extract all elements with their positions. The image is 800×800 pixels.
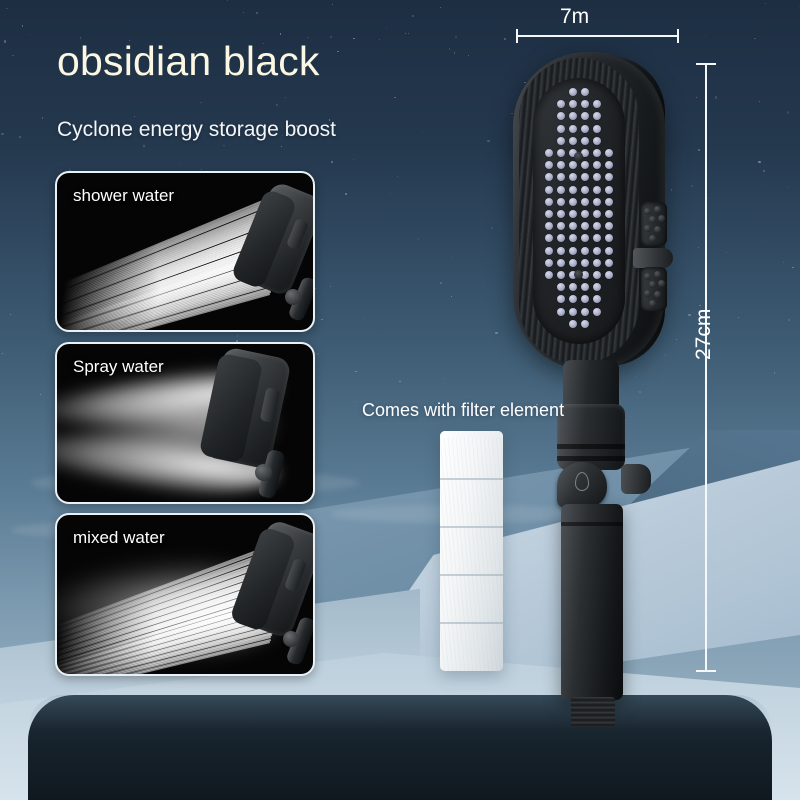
- filter-band: [440, 574, 503, 576]
- spray-nozzle: [593, 234, 601, 242]
- panel-sheen: [28, 695, 772, 729]
- spray-nozzle: [557, 283, 565, 291]
- spray-nozzle: [557, 247, 565, 255]
- spray-nozzle: [569, 186, 577, 194]
- spray-nozzle: [557, 125, 565, 133]
- filter-band: [440, 526, 503, 528]
- product-shower-head: [505, 52, 690, 677]
- spray-nozzle: [605, 222, 613, 230]
- mode-lever[interactable]: [633, 248, 673, 268]
- width-dimension-line: [516, 35, 678, 37]
- mini-knob: [283, 631, 299, 647]
- spray-nozzle: [557, 222, 565, 230]
- spray-nozzle: [557, 173, 565, 181]
- spray-nozzle: [581, 137, 589, 145]
- feature-card-spray-water[interactable]: Spray water: [55, 342, 315, 504]
- spray-nozzle: [593, 283, 601, 291]
- handle: [561, 504, 623, 700]
- filter-annotation: Comes with filter element: [362, 400, 564, 421]
- spray-nozzle: [581, 210, 589, 218]
- spray-nozzle: [605, 198, 613, 206]
- spray-face: [533, 78, 625, 344]
- spray-nozzle: [557, 271, 565, 279]
- spray-nozzle: [569, 320, 577, 328]
- spray-nozzle: [569, 198, 577, 206]
- filter-texture: [440, 431, 503, 671]
- spray-nozzle: [593, 247, 601, 255]
- spray-nozzle: [581, 222, 589, 230]
- water-drop-icon: [575, 472, 589, 491]
- spray-nozzle: [581, 88, 589, 96]
- spray-nozzle: [557, 234, 565, 242]
- spray-nozzle: [545, 271, 553, 279]
- spray-nozzle: [545, 222, 553, 230]
- spray-nozzle: [557, 161, 565, 169]
- spray-nozzle: [569, 222, 577, 230]
- spray-nozzle: [569, 308, 577, 316]
- spray-nozzle: [581, 283, 589, 291]
- spray-nozzle: [557, 112, 565, 120]
- face-screw: [574, 270, 583, 279]
- spray-nozzle: [593, 125, 601, 133]
- spray-nozzle: [557, 295, 565, 303]
- height-dimension-cap-top: [696, 63, 716, 65]
- spray-nozzle: [569, 259, 577, 267]
- spray-nozzle: [569, 173, 577, 181]
- spray-nozzle: [581, 259, 589, 267]
- spray-nozzle: [545, 149, 553, 157]
- product-marketing-image: obsidian black Cyclone energy storage bo…: [0, 0, 800, 800]
- mini-knob: [255, 464, 272, 481]
- spray-nozzle: [593, 137, 601, 145]
- spray-nozzle: [605, 247, 613, 255]
- spray-nozzle: [557, 100, 565, 108]
- spray-nozzle: [557, 198, 565, 206]
- spray-nozzle: [593, 112, 601, 120]
- spray-nozzle: [569, 88, 577, 96]
- feature-card-mixed-water[interactable]: mixed water: [55, 513, 315, 676]
- spray-nozzle: [593, 173, 601, 181]
- spray-nozzle: [557, 259, 565, 267]
- spray-nozzle: [605, 259, 613, 267]
- spray-nozzle: [581, 112, 589, 120]
- side-jet-pad-lower: [641, 267, 667, 311]
- spray-nozzle: [545, 234, 553, 242]
- filter-band: [440, 478, 503, 480]
- spray-nozzle: [581, 308, 589, 316]
- spray-nozzle: [545, 210, 553, 218]
- spray-nozzle: [581, 234, 589, 242]
- spray-nozzle: [593, 222, 601, 230]
- spray-nozzle: [593, 295, 601, 303]
- page-subtitle: Cyclone energy storage boost: [57, 118, 336, 142]
- spray-nozzle: [593, 308, 601, 316]
- spray-nozzle: [605, 234, 613, 242]
- spray-nozzle: [581, 125, 589, 133]
- threaded-connector: [571, 697, 615, 727]
- feature-card-label: mixed water: [73, 528, 165, 548]
- height-dimension-label: 27cm: [692, 309, 716, 360]
- spray-nozzle: [605, 173, 613, 181]
- filter-band: [440, 622, 503, 624]
- swivel-band: [557, 456, 625, 461]
- bottom-dark-panel: [28, 695, 772, 800]
- spray-nozzle: [545, 173, 553, 181]
- spray-nozzle: [545, 259, 553, 267]
- spray-nozzle: [581, 100, 589, 108]
- page-title: obsidian black: [57, 38, 320, 85]
- spray-nozzle: [569, 210, 577, 218]
- spray-nozzle: [593, 100, 601, 108]
- feature-card-label: shower water: [73, 186, 174, 206]
- spray-nozzle: [557, 137, 565, 145]
- spray-nozzle: [569, 137, 577, 145]
- spray-nozzle: [605, 210, 613, 218]
- spray-nozzle: [569, 234, 577, 242]
- spray-nozzle: [593, 259, 601, 267]
- feature-card-label: Spray water: [73, 357, 164, 377]
- width-dimension-cap-right: [677, 29, 679, 43]
- spray-nozzle: [593, 186, 601, 194]
- handle-seam: [561, 522, 623, 526]
- spray-nozzle: [605, 186, 613, 194]
- width-dimension-cap-left: [516, 29, 518, 43]
- height-dimension-cap-bottom: [696, 670, 716, 672]
- spray-nozzle: [593, 271, 601, 279]
- spray-nozzle: [593, 149, 601, 157]
- spray-nozzle: [581, 295, 589, 303]
- spray-nozzle: [605, 149, 613, 157]
- spray-nozzle: [581, 186, 589, 194]
- side-jet-pad-upper: [641, 202, 667, 246]
- face-screw: [574, 152, 583, 161]
- spray-nozzle: [581, 320, 589, 328]
- spray-nozzle: [557, 186, 565, 194]
- spray-nozzle: [593, 198, 601, 206]
- spray-nozzle: [545, 198, 553, 206]
- spray-nozzle: [593, 161, 601, 169]
- spray-nozzle: [569, 125, 577, 133]
- height-dimension-line: [705, 63, 707, 671]
- spray-nozzle: [581, 247, 589, 255]
- spray-nozzle: [569, 161, 577, 169]
- mini-knob: [285, 289, 301, 305]
- spray-nozzle: [569, 247, 577, 255]
- feature-card-shower-water[interactable]: shower water: [55, 171, 315, 332]
- spray-nozzle: [569, 283, 577, 291]
- spray-nozzle: [557, 149, 565, 157]
- spray-nozzle: [593, 210, 601, 218]
- spray-nozzle: [557, 210, 565, 218]
- spray-nozzle: [569, 295, 577, 303]
- spray-nozzle: [557, 308, 565, 316]
- spray-nozzle: [569, 112, 577, 120]
- spray-nozzle: [569, 100, 577, 108]
- spray-nozzle: [581, 161, 589, 169]
- filter-top-cap: [440, 431, 503, 438]
- swivel-band: [557, 444, 625, 449]
- spray-nozzle: [605, 161, 613, 169]
- spray-nozzle: [581, 173, 589, 181]
- spray-nozzle: [545, 161, 553, 169]
- side-knob[interactable]: [621, 464, 651, 494]
- spray-nozzle: [545, 247, 553, 255]
- spray-nozzle: [581, 198, 589, 206]
- spray-nozzle: [545, 186, 553, 194]
- spray-nozzle: [605, 271, 613, 279]
- width-dimension-label: 7m: [560, 5, 589, 29]
